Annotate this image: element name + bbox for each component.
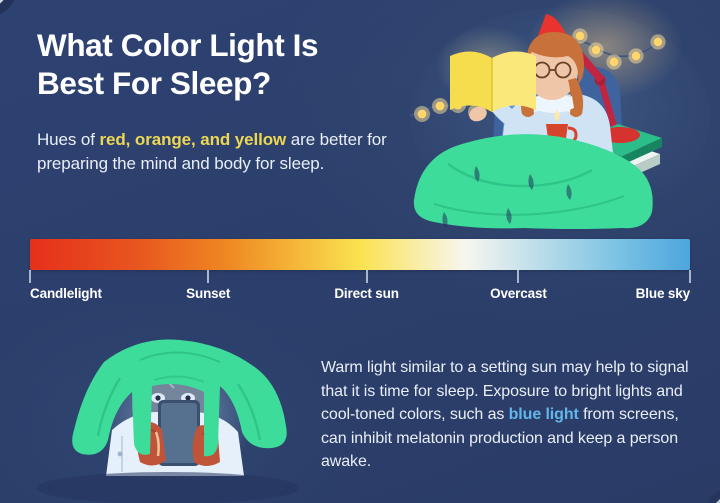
warm-colors-highlight: red, orange, and yellow (100, 130, 287, 149)
subheading-prefix: Hues of (37, 130, 100, 149)
illustration-phone-under-blanket (8, 338, 320, 503)
color-gradient-bar (30, 239, 690, 270)
subheading: Hues of red, orange, and yellow are bett… (37, 128, 409, 177)
color-temperature-scale: CandlelightSunsetDirect sunOvercastBlue … (30, 239, 690, 308)
scale-label-overcast: Overcast (490, 286, 547, 301)
title-line-2: Best For Sleep? (37, 65, 271, 101)
infographic-canvas: What Color Light Is Best For Sleep? Hues… (0, 0, 720, 503)
scale-tick-3 (517, 270, 519, 283)
scale-tick-1 (207, 270, 209, 283)
scale-tick-4 (689, 270, 691, 283)
scale-tick-2 (366, 270, 368, 283)
scale-label-blue-sky: Blue sky (636, 286, 690, 301)
illustration-reading-in-bed (400, 4, 720, 230)
corner-artifact-bottom-right (706, 489, 720, 503)
scale-tick-marks (30, 270, 690, 283)
title-line-1: What Color Light Is (37, 27, 318, 63)
body-paragraph: Warm light similar to a setting sun may … (321, 356, 703, 474)
scale-label-direct-sun: Direct sun (334, 286, 399, 301)
scale-label-sunset: Sunset (186, 286, 230, 301)
corner-artifact-top-left (0, 0, 16, 16)
scale-label-candlelight: Candlelight (30, 286, 102, 301)
scale-tick-0 (29, 270, 31, 283)
blue-light-highlight: blue light (509, 406, 579, 423)
scale-label-row: CandlelightSunsetDirect sunOvercastBlue … (30, 286, 690, 308)
open-book-icon (450, 51, 536, 112)
page-title: What Color Light Is Best For Sleep? (37, 26, 397, 103)
